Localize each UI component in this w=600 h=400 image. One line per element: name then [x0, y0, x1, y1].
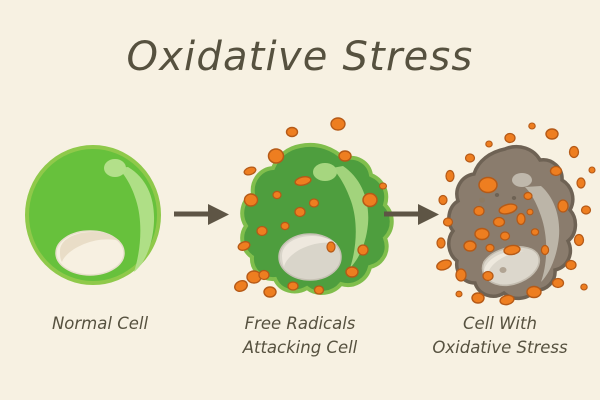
normal-cell-gloss-dot	[104, 159, 126, 177]
arrow-1	[174, 204, 229, 225]
damaged-cell-group	[435, 123, 595, 306]
damaged-cell-gloss-dot	[512, 173, 532, 187]
caption-free-radicals-attacking-cell: Free Radicals Attacking Cell	[200, 312, 400, 360]
diagram-canvas: Oxidative Stress	[0, 0, 600, 400]
stressed-cell-gloss-dot	[313, 163, 337, 181]
stressed-cell-group	[233, 118, 392, 297]
caption-cell-with-oxidative-stress: Cell With Oxidative Stress	[400, 312, 600, 360]
normal-cell-group	[27, 147, 159, 283]
caption-normal-cell: Normal Cell	[0, 312, 200, 336]
